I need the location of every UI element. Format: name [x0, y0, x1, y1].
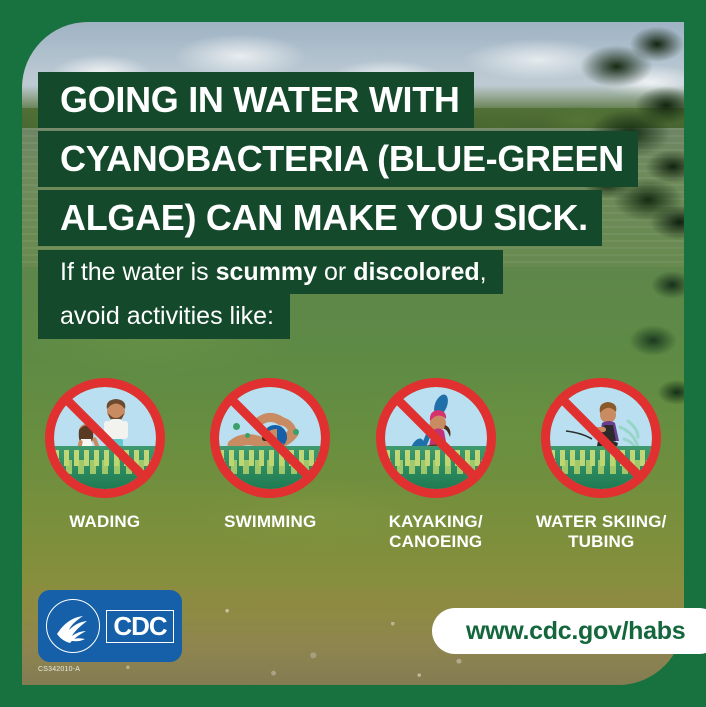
- activity-item-swimming: SWIMMING: [195, 378, 345, 532]
- subhead-text-pre: If the water is: [60, 258, 216, 286]
- subhead-line-2: avoid activities like:: [38, 294, 290, 338]
- no-water-skiing-icon: [541, 378, 661, 498]
- cdc-wordmark: CDC: [106, 610, 173, 643]
- cdc-habs-poster: GOING IN WATER WITH CYANOBACTERIA (BLUE-…: [0, 0, 706, 707]
- no-kayaking-icon: [376, 378, 496, 498]
- activity-item-wading: WADING: [30, 378, 180, 532]
- subhead-text-mid: or: [317, 258, 353, 286]
- headline-line-1: GOING IN WATER WITH: [38, 72, 474, 128]
- activity-label-swimming: SWIMMING: [195, 512, 345, 532]
- activity-item-water-skiing: WATER SKIING/ TUBING: [526, 378, 676, 551]
- subhead-bold-scummy: scummy: [216, 258, 317, 286]
- activity-label-water-skiing: WATER SKIING/ TUBING: [526, 512, 676, 551]
- hhs-seal-icon: [46, 599, 100, 653]
- activity-label-kayaking: KAYAKING/ CANOEING: [361, 512, 511, 551]
- subhead-line-1: If the water is scummy or discolored,: [38, 250, 503, 294]
- activity-item-kayaking: KAYAKING/ CANOEING: [361, 378, 511, 551]
- subhead-bold-discolored: discolored: [353, 258, 479, 286]
- url-pill[interactable]: www.cdc.gov/habs: [432, 608, 706, 654]
- headline-line-3: ALGAE) CAN MAKE YOU SICK.: [38, 190, 602, 246]
- activity-icon-row: WADING: [22, 378, 684, 551]
- cdc-logo-block: CDC CS342010-A: [38, 590, 182, 673]
- activity-label-wading: WADING: [30, 512, 180, 532]
- subhead: If the water is scummy or discolored, av…: [38, 250, 503, 339]
- url-text: www.cdc.gov/habs: [466, 617, 685, 646]
- subhead-text-post: ,: [480, 258, 487, 286]
- headline: GOING IN WATER WITH CYANOBACTERIA (BLUE-…: [38, 72, 638, 249]
- no-swimming-icon: [210, 378, 330, 498]
- headline-line-2: CYANOBACTERIA (BLUE-GREEN: [38, 131, 638, 187]
- cdc-logo: CDC: [38, 590, 182, 662]
- hhs-bird-glyph: [47, 600, 101, 654]
- publication-code: CS342010-A: [38, 666, 182, 673]
- no-wading-icon: [45, 378, 165, 498]
